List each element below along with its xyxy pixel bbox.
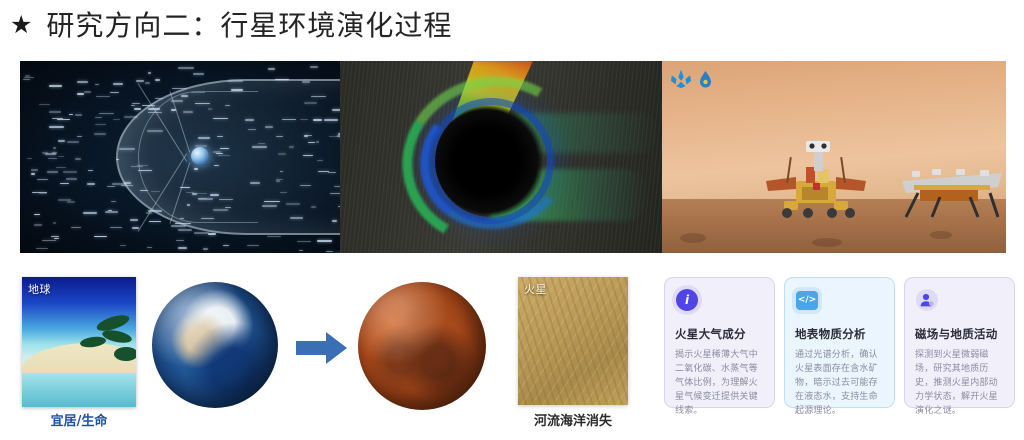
mars-globe (358, 282, 486, 410)
planet-disk-icon (435, 105, 547, 217)
page-title: ★ 研究方向二：行星环境演化过程 (10, 4, 452, 44)
card-mars-atmosphere[interactable]: i 火星大气成分 揭示火星稀薄大气中二氧化碳、水蒸气等气体比例，为理解火星气候变… (664, 277, 775, 408)
card-magnetic-geology[interactable]: 磁场与地质活动 探测到火星微弱磁场，研究其地质历史，推测火星内部动力学状态，解开… (904, 277, 1015, 408)
arrow-right-icon (296, 331, 348, 365)
mars-lander-icon (900, 167, 1004, 219)
user-icon-glyph (916, 289, 938, 311)
feature-cards: i 火星大气成分 揭示火星稀薄大气中二氧化碳、水蒸气等气体比例，为理解火星气候变… (664, 277, 1015, 408)
info-icon-glyph: i (676, 289, 698, 311)
card-title: 地表物质分析 (795, 326, 885, 342)
earth-photo-tag: 地球 (28, 281, 51, 297)
card-description: 通过光谱分析，确认火星表面存在含水矿物，暗示过去可能存在液态水，支持生命起源理论… (795, 349, 885, 419)
user-silhouette-icon (920, 293, 934, 307)
cnsa-logo (670, 69, 712, 89)
mars-terrain-photo: 火星 (518, 277, 628, 405)
rock-shape (930, 231, 952, 239)
info-icon: i (675, 288, 699, 312)
slide-root: ★ 研究方向二：行星环境演化过程 (0, 0, 1024, 440)
mars-rover-photo (662, 61, 1006, 253)
planet-icon (191, 147, 209, 165)
card-description: 揭示火星稀薄大气中二氧化碳、水蒸气等气体比例，为理解火星气候变迁提供关键线索。 (675, 349, 765, 419)
image-band (20, 61, 1006, 253)
palm-shape (114, 347, 136, 361)
code-icon-glyph: </> (796, 291, 818, 310)
rock-shape (680, 233, 706, 243)
card-title: 磁场与地质活动 (915, 326, 1005, 342)
mars-rover-icon (762, 141, 870, 219)
card-surface-material[interactable]: </> 地表物质分析 通过光谱分析，确认火星表面存在含水矿物，暗示过去可能存在液… (784, 277, 895, 408)
earth-beach-photo: 地球 (22, 277, 136, 407)
user-icon (915, 288, 939, 312)
earth-globe (152, 282, 278, 408)
cnsa-emblem-icon (670, 69, 692, 89)
beach-water (22, 373, 136, 407)
mars-terrain-caption: 河流海洋消失 (518, 410, 628, 429)
palm-shape (101, 328, 133, 345)
card-description: 探测到火星微弱磁场，研究其地质历史，推测火星内部动力学状态，解开火星演化之谜。 (915, 349, 1005, 419)
rock-shape (812, 238, 842, 247)
mars-terrain-tag: 火星 (524, 281, 547, 297)
code-icon: </> (795, 288, 819, 312)
card-title: 火星大气成分 (675, 326, 765, 342)
star-icon: ★ (10, 12, 32, 37)
earth-caption: 宜居/生命 (22, 410, 136, 429)
plasma-simulation (340, 61, 662, 253)
page-title-text: 研究方向二：行星环境演化过程 (46, 4, 452, 44)
magnetosphere-illustration (20, 61, 340, 253)
mission-emblem-icon (699, 70, 712, 88)
